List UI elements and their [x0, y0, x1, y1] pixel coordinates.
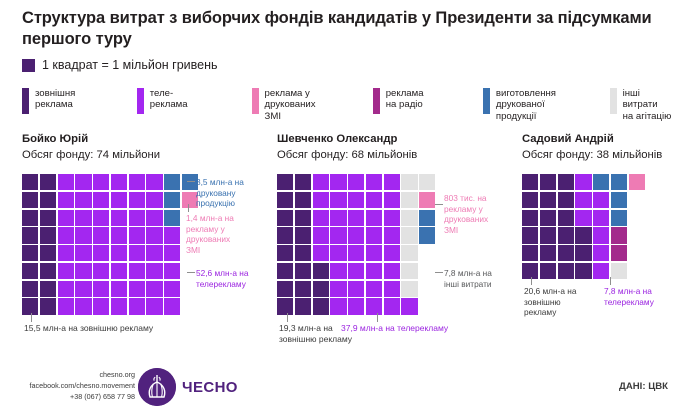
waffle-cell [277, 263, 293, 279]
waffle-cell [22, 245, 38, 261]
waffle-cell [129, 174, 145, 190]
brand-logo: ЧЕСНО [138, 368, 238, 406]
waffle-cell [558, 192, 574, 208]
waffle-cell [111, 174, 127, 190]
panel-boyko: Бойко Юрій Обсяг фонду: 74 мільйони [22, 133, 198, 315]
leader-line [188, 204, 189, 212]
waffle-cell [93, 210, 109, 226]
waffle-cell [313, 192, 329, 208]
waffle-cell [164, 298, 180, 314]
waffle-cell [348, 227, 364, 243]
waffle-cell [40, 210, 56, 226]
waffle-cell [401, 298, 417, 314]
waffle-cell [93, 174, 109, 190]
leader-line [187, 181, 195, 182]
waffle-cell [22, 174, 38, 190]
candidate-name: Шевченко Олександр [277, 133, 435, 145]
legend-swatch-print-media-advertising [252, 88, 259, 114]
waffle-cell [164, 210, 180, 226]
waffle-cell [58, 210, 74, 226]
waffle-cell [146, 210, 162, 226]
waffle-cell [40, 281, 56, 297]
waffle-cell [22, 210, 38, 226]
waffle-cell [129, 192, 145, 208]
waffle-cell [295, 298, 311, 314]
waffle-cell [348, 298, 364, 314]
waffle-cell [419, 192, 435, 208]
waffle-cell [384, 281, 400, 297]
legend-item-radio-advertising: рекламана радіо [373, 88, 483, 122]
fund-amount: Обсяг фонду: 38 мільйонів [522, 149, 662, 161]
footer-phone: +38 (067) 658 77 98 [0, 392, 135, 403]
waffle-cell [277, 210, 293, 226]
annotation-outdoor: 20,6 млн-а назовнішнюрекламу [524, 286, 604, 318]
waffle-cell [522, 192, 538, 208]
waffle-cell [22, 227, 38, 243]
legend-swatch-tv-advertising [137, 88, 144, 114]
waffle-cell [419, 210, 435, 226]
leader-line [435, 272, 443, 273]
waffle-cell [575, 192, 591, 208]
waffle-cell [146, 174, 162, 190]
waffle-cell [164, 263, 180, 279]
waffle-cell [295, 192, 311, 208]
waffle-cell [146, 192, 162, 208]
waffle-cell [575, 227, 591, 243]
waffle-cell-empty [629, 245, 645, 261]
waffle-cell [111, 227, 127, 243]
waffle-cell-empty [419, 263, 435, 279]
legend-swatch-print-production [483, 88, 490, 114]
unit-key-swatch [22, 59, 35, 72]
waffle-cell [593, 263, 609, 279]
panel-sadovyi: Садовий Андрій Обсяг фонду: 38 мільйонів [522, 133, 662, 279]
annotation-tv: 52,6 млн-а нателерекламу [196, 268, 281, 289]
waffle-cell [164, 281, 180, 297]
waffle-cell [575, 245, 591, 261]
legend-item-outdoor-advertising: зовнішняреклама [22, 88, 137, 122]
waffle-cell [75, 298, 91, 314]
waffle-cell [277, 192, 293, 208]
waffle-cell [129, 281, 145, 297]
footer-facebook[interactable]: facebook.com/chesno.movement [0, 381, 135, 392]
legend-label: інші витратина агітацію [623, 88, 672, 122]
waffle-cell [540, 192, 556, 208]
waffle-cell [93, 245, 109, 261]
leader-line [31, 313, 32, 322]
waffle-cell [129, 298, 145, 314]
waffle-cell [540, 174, 556, 190]
legend-swatch-outdoor-advertising [22, 88, 29, 114]
leader-line [287, 313, 288, 322]
legend-swatch-other-campaign-costs [610, 88, 617, 114]
waffle-cell [366, 281, 382, 297]
waffle-cell [611, 174, 627, 190]
waffle-cell [93, 281, 109, 297]
legend-item-print-production: виготовленнядрукованоїпродукції [483, 88, 610, 122]
waffle-cell [540, 263, 556, 279]
waffle-cell [330, 210, 346, 226]
waffle-cell [611, 192, 627, 208]
panel-shevchenko: Шевченко Олександр Обсяг фонду: 68 мільй… [277, 133, 435, 315]
annotation-print-media: 803 тис. нарекламу удрукованихЗМІ [444, 193, 526, 235]
waffle-cell [313, 245, 329, 261]
waffle-cell [348, 281, 364, 297]
waffle-cell [401, 281, 417, 297]
waffle-cell-empty [629, 192, 645, 208]
waffle-cell [295, 281, 311, 297]
candidate-name: Бойко Юрій [22, 133, 198, 145]
waffle-cell [419, 227, 435, 243]
waffle-cell [313, 174, 329, 190]
waffle-cell [129, 245, 145, 261]
waffle-cell [295, 174, 311, 190]
waffle-cell [593, 227, 609, 243]
waffle-cell [277, 245, 293, 261]
waffle-cell [277, 298, 293, 314]
waffle-cell [366, 192, 382, 208]
waffle-cell [93, 263, 109, 279]
page-title: Структура витрат з виборчих фондів канди… [22, 8, 672, 50]
waffle-cell [58, 192, 74, 208]
waffle-cell [93, 227, 109, 243]
waffle-cell [313, 210, 329, 226]
annotation-tv: 7,8 млн-а нателерекламу [604, 286, 682, 307]
waffle-cell [111, 245, 127, 261]
waffle-cell [313, 227, 329, 243]
waffle-cell [401, 263, 417, 279]
waffle-cell [75, 281, 91, 297]
waffle-cell [58, 227, 74, 243]
waffle-cell [330, 245, 346, 261]
fund-amount: Обсяг фонду: 68 мільйонів [277, 149, 435, 161]
waffle-cell [384, 227, 400, 243]
waffle-cell [146, 298, 162, 314]
waffle-cell [401, 174, 417, 190]
legend-label: теле-реклама [150, 88, 188, 111]
waffle-cell [75, 192, 91, 208]
candidate-name: Садовий Андрій [522, 133, 662, 145]
legend: зовнішнярекламателе-рекламареклама удрук… [22, 88, 672, 122]
waffle-cell [522, 174, 538, 190]
waffle-cell [146, 281, 162, 297]
waffle-cell-empty [629, 227, 645, 243]
waffle-cell [348, 174, 364, 190]
waffle-cell [558, 210, 574, 226]
waffle-cell [75, 210, 91, 226]
waffle-cell [58, 245, 74, 261]
waffle-cell [558, 245, 574, 261]
waffle-cell [146, 245, 162, 261]
waffle-cell [146, 263, 162, 279]
waffle-cell [164, 227, 180, 243]
waffle-cell [348, 192, 364, 208]
waffle-cell [611, 227, 627, 243]
waffle-cell [164, 245, 180, 261]
leader-line [435, 204, 443, 205]
legend-label: реклама удрукованихЗМІ [265, 88, 316, 122]
waffle-cell [58, 263, 74, 279]
waffle-cell [384, 210, 400, 226]
waffle-cell [348, 263, 364, 279]
waffle-cell [58, 281, 74, 297]
waffle-cell [366, 245, 382, 261]
waffle-cell [146, 227, 162, 243]
waffle-cell [277, 174, 293, 190]
waffle-grid-shevchenko [277, 174, 435, 315]
waffle-cell [111, 281, 127, 297]
waffle-cell [58, 174, 74, 190]
waffle-cell [330, 281, 346, 297]
unit-key: 1 квадрат = 1 мільйон гривень [22, 58, 218, 72]
waffle-cell [611, 263, 627, 279]
legend-item-other-campaign-costs: інші витратина агітацію [610, 88, 672, 122]
fund-amount: Обсяг фонду: 74 мільйони [22, 149, 198, 161]
annotation-other: 7,8 млн-а наінші витрати [444, 268, 528, 289]
footer-site[interactable]: chesno.org [0, 370, 135, 381]
waffle-cell [129, 263, 145, 279]
waffle-cell [522, 227, 538, 243]
waffle-cell [164, 192, 180, 208]
leader-line [377, 313, 378, 322]
waffle-cell [330, 298, 346, 314]
waffle-cell [40, 245, 56, 261]
waffle-cell-empty [419, 245, 435, 261]
waffle-cell [313, 263, 329, 279]
annotation-print-media: 1,4 млн-а нарекламу удрукованихЗМІ [186, 213, 268, 255]
waffle-cell [129, 210, 145, 226]
waffle-cell [40, 192, 56, 208]
waffle-cell [313, 281, 329, 297]
waffle-cell [366, 263, 382, 279]
waffle-cell [111, 298, 127, 314]
waffle-cell [522, 245, 538, 261]
waffle-cell [40, 263, 56, 279]
legend-label: виготовленнядрукованоїпродукції [496, 88, 556, 122]
garlic-logo-icon [138, 368, 176, 406]
legend-label: зовнішняреклама [35, 88, 75, 111]
waffle-cell [295, 227, 311, 243]
data-source: ДАНІ: ЦВК [619, 381, 668, 392]
waffle-cell [593, 192, 609, 208]
waffle-cell [593, 210, 609, 226]
waffle-cell [401, 210, 417, 226]
waffle-cell [58, 298, 74, 314]
waffle-cell [593, 174, 609, 190]
annotation-tv: 37,9 млн-а на телерекламу [341, 323, 491, 334]
waffle-grid-boyko [22, 174, 198, 315]
waffle-cell [330, 192, 346, 208]
waffle-cell [313, 298, 329, 314]
waffle-cell [111, 263, 127, 279]
waffle-cell [558, 227, 574, 243]
waffle-cell [93, 192, 109, 208]
waffle-cell [40, 227, 56, 243]
waffle-cell [540, 210, 556, 226]
waffle-cell [93, 298, 109, 314]
legend-label: рекламана радіо [386, 88, 424, 111]
waffle-cell [540, 227, 556, 243]
waffle-cell [366, 174, 382, 190]
legend-item-tv-advertising: теле-реклама [137, 88, 252, 122]
waffle-cell [111, 192, 127, 208]
waffle-cell [22, 192, 38, 208]
waffle-grid-sadovyi [522, 174, 662, 279]
waffle-cell [330, 263, 346, 279]
waffle-cell-empty [629, 263, 645, 279]
waffle-cell [277, 281, 293, 297]
waffle-cell [129, 227, 145, 243]
waffle-cell [611, 245, 627, 261]
waffle-cell [22, 281, 38, 297]
waffle-cell [330, 227, 346, 243]
waffle-cell [575, 174, 591, 190]
waffle-cell [419, 174, 435, 190]
waffle-cell [384, 263, 400, 279]
waffle-cell [40, 174, 56, 190]
legend-swatch-radio-advertising [373, 88, 380, 114]
annotation-outdoor: 15,5 млн-а на зовнішню рекламу [24, 323, 214, 334]
brand-wordmark: ЧЕСНО [182, 379, 238, 396]
waffle-cell [366, 210, 382, 226]
waffle-cell [522, 210, 538, 226]
waffle-cell-empty [419, 281, 435, 297]
waffle-cell [384, 174, 400, 190]
waffle-cell [75, 263, 91, 279]
waffle-cell [384, 298, 400, 314]
legend-item-print-media-advertising: реклама удрукованихЗМІ [252, 88, 373, 122]
waffle-cell [575, 210, 591, 226]
waffle-cell [629, 174, 645, 190]
annotation-print-production: 3,5 млн-а надрукованупродукцію [196, 177, 276, 209]
leader-line [531, 277, 532, 285]
waffle-cell [164, 174, 180, 190]
leader-line [610, 277, 611, 285]
waffle-cell [366, 227, 382, 243]
waffle-cell [75, 227, 91, 243]
footer-contact: chesno.org facebook.com/chesno.movement … [0, 370, 135, 402]
waffle-cell [540, 245, 556, 261]
waffle-cell [348, 245, 364, 261]
waffle-cell-empty [182, 298, 198, 314]
waffle-cell [40, 298, 56, 314]
waffle-cell [111, 210, 127, 226]
waffle-cell [330, 174, 346, 190]
waffle-cell [348, 210, 364, 226]
waffle-cell [384, 192, 400, 208]
waffle-cell-empty [419, 298, 435, 314]
waffle-cell [295, 245, 311, 261]
waffle-cell [366, 298, 382, 314]
waffle-cell [593, 245, 609, 261]
unit-key-label: 1 квадрат = 1 мільйон гривень [42, 58, 218, 72]
waffle-cell [558, 174, 574, 190]
waffle-cell [384, 245, 400, 261]
waffle-cell [277, 227, 293, 243]
waffle-cell [575, 263, 591, 279]
waffle-cell [401, 192, 417, 208]
waffle-cell [295, 210, 311, 226]
waffle-cell [401, 227, 417, 243]
waffle-cell [75, 245, 91, 261]
waffle-cell [22, 263, 38, 279]
waffle-cell [558, 263, 574, 279]
waffle-cell [611, 210, 627, 226]
waffle-cell-empty [629, 210, 645, 226]
waffle-cell [75, 174, 91, 190]
waffle-cell [401, 245, 417, 261]
waffle-cell [295, 263, 311, 279]
leader-line [187, 272, 195, 273]
